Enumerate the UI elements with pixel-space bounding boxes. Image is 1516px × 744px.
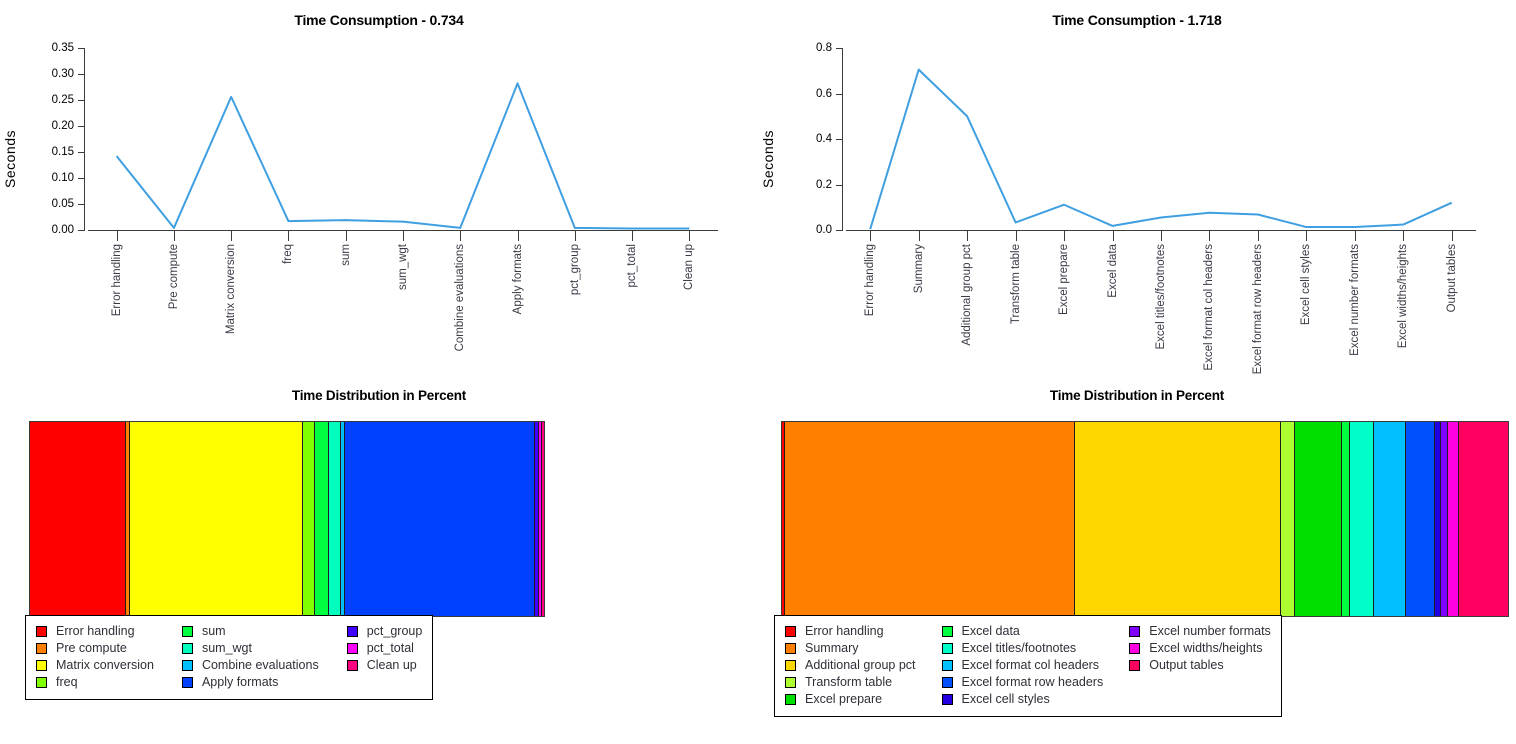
legend-swatch xyxy=(785,626,796,637)
x-tick xyxy=(1355,230,1356,241)
panel-left: Time Consumption - 0.734 Seconds 0.000.0… xyxy=(0,0,758,744)
legend-item: Error handling xyxy=(36,623,154,640)
legend-swatch xyxy=(182,626,193,637)
legend-label: freq xyxy=(56,674,78,691)
legend-item: Output tables xyxy=(1129,657,1271,674)
bar-segment xyxy=(1459,422,1508,616)
x-tick xyxy=(1113,230,1114,241)
plot-area-left: 0.000.050.100.150.200.250.300.35Error ha… xyxy=(88,48,718,230)
x-tick-label: Pre compute xyxy=(168,244,180,309)
line-chart-title-left: Time Consumption - 0.734 xyxy=(0,12,758,28)
x-tick-label: Excel titles/footnotes xyxy=(1155,244,1167,349)
bar-segment xyxy=(1281,422,1295,616)
legend-item: Summary xyxy=(785,640,916,657)
legend-swatch xyxy=(36,643,47,654)
y-tick-label: 0.2 xyxy=(772,179,832,191)
legend-label: Excel widths/heights xyxy=(1149,640,1262,657)
bar-segment xyxy=(315,422,329,616)
legend-swatch xyxy=(347,643,358,654)
y-tick xyxy=(836,48,843,49)
legend-label: Matrix conversion xyxy=(56,657,154,674)
bar-segment xyxy=(303,422,315,616)
x-tick-label: pct_total xyxy=(626,244,638,287)
y-tick-label: 0.15 xyxy=(14,146,74,158)
bar-segment xyxy=(1350,422,1374,616)
legend-label: Excel titles/footnotes xyxy=(962,640,1077,657)
legend-label: sum_wgt xyxy=(202,640,252,657)
legend-item: Clean up xyxy=(347,657,423,674)
legend-swatch xyxy=(182,677,193,688)
legend-label: Clean up xyxy=(367,657,417,674)
legend-label: pct_group xyxy=(367,623,423,640)
line-chart-title-right: Time Consumption - 1.718 xyxy=(758,12,1516,28)
y-tick xyxy=(78,204,85,205)
x-tick-label: Error handling xyxy=(111,244,123,316)
bar-segment xyxy=(329,422,341,616)
legend-swatch xyxy=(785,643,796,654)
legend-item: Error handling xyxy=(785,623,916,640)
bar-segment xyxy=(1295,422,1342,616)
legend-item: Excel widths/heights xyxy=(1129,640,1271,657)
y-tick-label: 0.10 xyxy=(14,172,74,184)
series-line xyxy=(88,48,718,230)
bar-segment xyxy=(1406,422,1435,616)
legend-item: sum_wgt xyxy=(182,640,319,657)
legend-swatch xyxy=(347,660,358,671)
x-tick xyxy=(967,230,968,241)
x-tick xyxy=(174,230,175,241)
legend-columns: Error handlingPre computeMatrix conversi… xyxy=(36,623,422,691)
y-tick xyxy=(78,100,85,101)
y-tick xyxy=(78,48,85,49)
x-tick-label: Transform table xyxy=(1010,244,1022,324)
y-tick-label: 0.05 xyxy=(14,198,74,210)
y-tick xyxy=(836,230,843,231)
legend-column: sumsum_wgtCombine evaluationsApply forma… xyxy=(182,623,319,691)
x-tick xyxy=(632,230,633,241)
legend-item: Excel format row headers xyxy=(942,674,1104,691)
legend-swatch xyxy=(942,694,953,705)
legend-item: freq xyxy=(36,674,154,691)
legend-item: Apply formats xyxy=(182,674,319,691)
x-tick xyxy=(1306,230,1307,241)
x-tick-label: Excel data xyxy=(1107,244,1119,298)
legend-column: Excel dataExcel titles/footnotesExcel fo… xyxy=(942,623,1104,708)
legend-label: Apply formats xyxy=(202,674,278,691)
x-tick xyxy=(117,230,118,241)
legend-swatch xyxy=(942,626,953,637)
y-tick xyxy=(836,185,843,186)
x-tick-label: Output tables xyxy=(1446,244,1458,312)
legend-label: Output tables xyxy=(1149,657,1223,674)
stacked-bar-right xyxy=(781,421,1509,617)
legend-label: Summary xyxy=(805,640,858,657)
legend-swatch xyxy=(785,660,796,671)
y-tick-label: 0.4 xyxy=(772,133,832,145)
x-tick xyxy=(403,230,404,241)
x-tick xyxy=(1209,230,1210,241)
x-tick xyxy=(689,230,690,241)
legend-column: Error handlingPre computeMatrix conversi… xyxy=(36,623,154,691)
legend-label: Transform table xyxy=(805,674,892,691)
x-tick xyxy=(919,230,920,241)
legend-swatch xyxy=(36,677,47,688)
legend-item: Excel data xyxy=(942,623,1104,640)
legend-swatch xyxy=(1129,626,1140,637)
bar-segment xyxy=(542,422,544,616)
x-tick-label: Clean up xyxy=(683,244,695,290)
x-tick xyxy=(1452,230,1453,241)
legend-right: Error handlingSummaryAdditional group pc… xyxy=(774,615,1282,717)
legend-label: Excel prepare xyxy=(805,691,882,708)
x-tick-label: sum_wgt xyxy=(397,244,409,290)
y-tick xyxy=(78,230,85,231)
x-tick xyxy=(1403,230,1404,241)
x-tick-label: sum xyxy=(340,244,352,266)
bar-segment xyxy=(345,422,535,616)
stacked-bar-left xyxy=(29,421,545,617)
plot-area-right: 0.00.20.40.60.8Error handlingSummaryAddi… xyxy=(846,48,1476,230)
series-line xyxy=(846,48,1476,230)
x-tick xyxy=(1064,230,1065,241)
bar-segment xyxy=(30,422,126,616)
x-tick xyxy=(460,230,461,241)
x-tick-label: Excel cell styles xyxy=(1300,244,1312,325)
legend-columns: Error handlingSummaryAdditional group pc… xyxy=(785,623,1271,708)
y-tick xyxy=(78,152,85,153)
legend-swatch xyxy=(36,660,47,671)
legend-swatch xyxy=(785,694,796,705)
legend-item: Additional group pct xyxy=(785,657,916,674)
legend-swatch xyxy=(1129,643,1140,654)
legend-label: Excel data xyxy=(962,623,1020,640)
x-tick-label: Excel widths/heights xyxy=(1397,244,1409,348)
bar-segment xyxy=(1448,422,1459,616)
x-tick xyxy=(518,230,519,241)
legend-left: Error handlingPre computeMatrix conversi… xyxy=(25,615,433,700)
x-tick-label: Excel number formats xyxy=(1349,244,1361,356)
bar-segment xyxy=(1342,422,1350,616)
y-tick xyxy=(836,139,843,140)
x-tick-label: Summary xyxy=(913,244,925,293)
x-tick-label: Combine evaluations xyxy=(454,244,466,351)
legend-swatch xyxy=(942,677,953,688)
line-chart-right: Seconds 0.00.20.40.60.8Error handlingSum… xyxy=(758,40,1516,380)
x-tick-label: freq xyxy=(282,244,294,264)
legend-label: Combine evaluations xyxy=(202,657,319,674)
x-tick xyxy=(1258,230,1259,241)
line-chart-left: Seconds 0.000.050.100.150.200.250.300.35… xyxy=(0,40,758,380)
x-axis: Error handlingPre computeMatrix conversi… xyxy=(88,230,718,242)
legend-swatch xyxy=(942,643,953,654)
legend-item: Excel format col headers xyxy=(942,657,1104,674)
x-tick-label: Error handling xyxy=(864,244,876,316)
legend-swatch xyxy=(182,643,193,654)
y-tick xyxy=(78,74,85,75)
legend-swatch xyxy=(785,677,796,688)
bar-segment xyxy=(130,422,303,616)
legend-item: Matrix conversion xyxy=(36,657,154,674)
legend-item: Pre compute xyxy=(36,640,154,657)
y-tick xyxy=(836,94,843,95)
y-tick-label: 0.25 xyxy=(14,94,74,106)
legend-item: Excel prepare xyxy=(785,691,916,708)
x-tick xyxy=(870,230,871,241)
legend-swatch xyxy=(347,626,358,637)
x-tick xyxy=(231,230,232,241)
legend-label: Excel number formats xyxy=(1149,623,1271,640)
legend-swatch xyxy=(942,660,953,671)
x-tick-label: Matrix conversion xyxy=(225,244,237,334)
legend-item: Excel titles/footnotes xyxy=(942,640,1104,657)
y-tick-label: 0.0 xyxy=(772,224,832,236)
legend-label: Pre compute xyxy=(56,640,127,657)
y-tick-label: 0.6 xyxy=(772,88,832,100)
x-tick xyxy=(346,230,347,241)
legend-label: Excel cell styles xyxy=(962,691,1050,708)
bar-segment xyxy=(785,422,1075,616)
x-tick xyxy=(1161,230,1162,241)
legend-item: pct_total xyxy=(347,640,423,657)
bar-segment xyxy=(1075,422,1281,616)
x-tick-label: Excel format col headers xyxy=(1203,244,1215,371)
legend-label: Excel format col headers xyxy=(962,657,1100,674)
x-axis: Error handlingSummaryAdditional group pc… xyxy=(846,230,1476,242)
legend-label: sum xyxy=(202,623,226,640)
legend-item: pct_group xyxy=(347,623,423,640)
x-tick xyxy=(1016,230,1017,241)
legend-item: Excel cell styles xyxy=(942,691,1104,708)
x-tick-label: Excel prepare xyxy=(1058,244,1070,315)
legend-label: Error handling xyxy=(56,623,135,640)
legend-item: sum xyxy=(182,623,319,640)
legend-swatch xyxy=(1129,660,1140,671)
y-tick xyxy=(78,178,85,179)
y-tick-label: 0.20 xyxy=(14,120,74,132)
y-tick-label: 0.30 xyxy=(14,68,74,80)
panel-right: Time Consumption - 1.718 Seconds 0.00.20… xyxy=(758,0,1516,744)
y-tick-label: 0.8 xyxy=(772,42,832,54)
y-tick xyxy=(78,126,85,127)
legend-column: pct_grouppct_totalClean up xyxy=(347,623,423,691)
legend-column: Excel number formatsExcel widths/heights… xyxy=(1129,623,1271,708)
report-page: Time Consumption - 0.734 Seconds 0.000.0… xyxy=(0,0,1516,744)
legend-label: Excel format row headers xyxy=(962,674,1104,691)
x-tick xyxy=(288,230,289,241)
x-tick-label: Additional group pct xyxy=(961,244,973,346)
x-tick-label: Excel format row headers xyxy=(1252,244,1264,374)
bar-chart-title-left: Time Distribution in Percent xyxy=(0,388,758,403)
legend-item: Combine evaluations xyxy=(182,657,319,674)
bar-segment xyxy=(1374,422,1406,616)
legend-swatch xyxy=(182,660,193,671)
x-tick xyxy=(575,230,576,241)
legend-swatch xyxy=(36,626,47,637)
legend-label: Error handling xyxy=(805,623,884,640)
y-tick-label: 0.00 xyxy=(14,224,74,236)
legend-label: pct_total xyxy=(367,640,414,657)
bar-chart-title-right: Time Distribution in Percent xyxy=(758,388,1516,403)
x-tick-label: pct_group xyxy=(569,244,581,295)
x-tick-label: Apply formats xyxy=(512,244,524,314)
legend-column: Error handlingSummaryAdditional group pc… xyxy=(785,623,916,708)
y-tick-label: 0.35 xyxy=(14,42,74,54)
legend-item: Excel number formats xyxy=(1129,623,1271,640)
legend-item: Transform table xyxy=(785,674,916,691)
legend-label: Additional group pct xyxy=(805,657,916,674)
